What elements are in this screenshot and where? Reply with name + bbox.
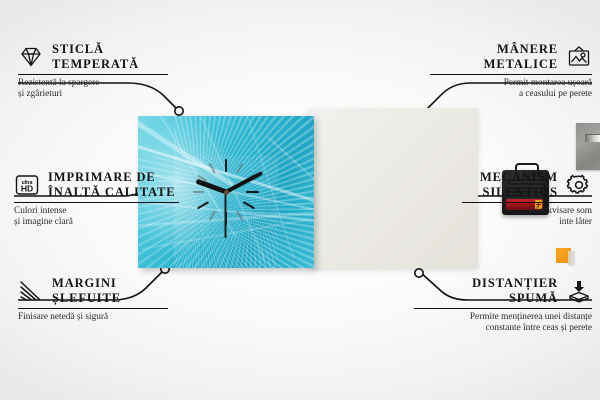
callout-metal-handles: MÂNERE METALICE Permit montarea ușoară a… [430,42,592,101]
feature-subtitle-line1: Rezistentă la spargere [18,78,168,90]
clock-center-cap [224,190,229,195]
product-image [138,108,478,273]
feature-title-line1: MARGINI [52,276,121,291]
feature-subtitle-line2: inte låter [462,217,592,229]
feature-subtitle-line1: Permit montarea ușoară [430,78,592,90]
feature-title-line2: ȘLEFUITE [52,291,121,306]
press-down-pad-icon [566,279,592,303]
feature-title-line1: STICLĂ [52,42,139,57]
feature-subtitle-line2: și zgârieturi [18,89,168,101]
feature-title-line1: MÂNERE [484,42,558,57]
callout-rule [462,202,592,203]
callout-rule [414,308,592,309]
callout-high-quality-print: ultra HD IMPRIMARE DE ÎNALTĂ CALITATE Cu… [14,170,179,229]
framed-picture-hanger-icon [566,45,592,69]
callout-rule [430,74,592,75]
callout-tempered-glass: STICLĂ TEMPERATĂ Rezistentă la spargere … [18,42,168,101]
callout-foam-spacer: DISTANȚIER SPUMĂ Permite menținerea unei… [414,276,592,335]
feature-subtitle-line2: și imagine clară [14,217,179,229]
feature-title-line1: MECANISM [480,170,558,185]
foam-spacer-pad [556,248,571,263]
feature-title-line2: ÎNALTĂ CALITATE [48,185,176,200]
callout-silent-mechanism: MECANISM SILENȚIOS Klockvisare som inte … [462,170,592,229]
bracket-keyhole-slot [585,134,600,142]
feature-subtitle-line1: Finisare netedă și sigură [18,312,168,324]
clock-back-panel [308,108,478,268]
ultra-hd-badge-icon: ultra HD [14,173,40,197]
feature-title-line2: METALICE [484,57,558,72]
feature-subtitle-line1: Permite menținerea unei distanțe [414,312,592,324]
feature-title-line2: SPUMĂ [472,291,558,306]
svg-text:HD: HD [21,184,33,194]
feature-subtitle-line1: Culori intense [14,206,179,218]
callout-rule [18,308,168,309]
feature-title-line1: DISTANȚIER [472,276,558,291]
gear-icon [566,173,592,197]
feature-subtitle-line1: Klockvisare som [462,206,592,218]
infographic-canvas: STICLĂ TEMPERATĂ Rezistentă la spargere … [0,0,600,400]
feature-title-line1: IMPRIMARE DE [48,170,176,185]
callout-polished-edges: MARGINI ȘLEFUITE Finisare netedă și sigu… [18,276,168,323]
feature-title-line2: SILENȚIOS [480,185,558,200]
callout-rule [14,202,179,203]
feature-title-line2: TEMPERATĂ [52,57,139,72]
feature-subtitle-line2: a ceasului pe perete [430,89,592,101]
metal-bracket [576,123,600,170]
foam-spacer-shadow [568,251,575,266]
hatch-lines-icon [18,279,44,303]
feature-subtitle-line2: constante între ceas și perete [414,323,592,335]
callout-rule [18,74,168,75]
diamond-icon [18,45,44,69]
